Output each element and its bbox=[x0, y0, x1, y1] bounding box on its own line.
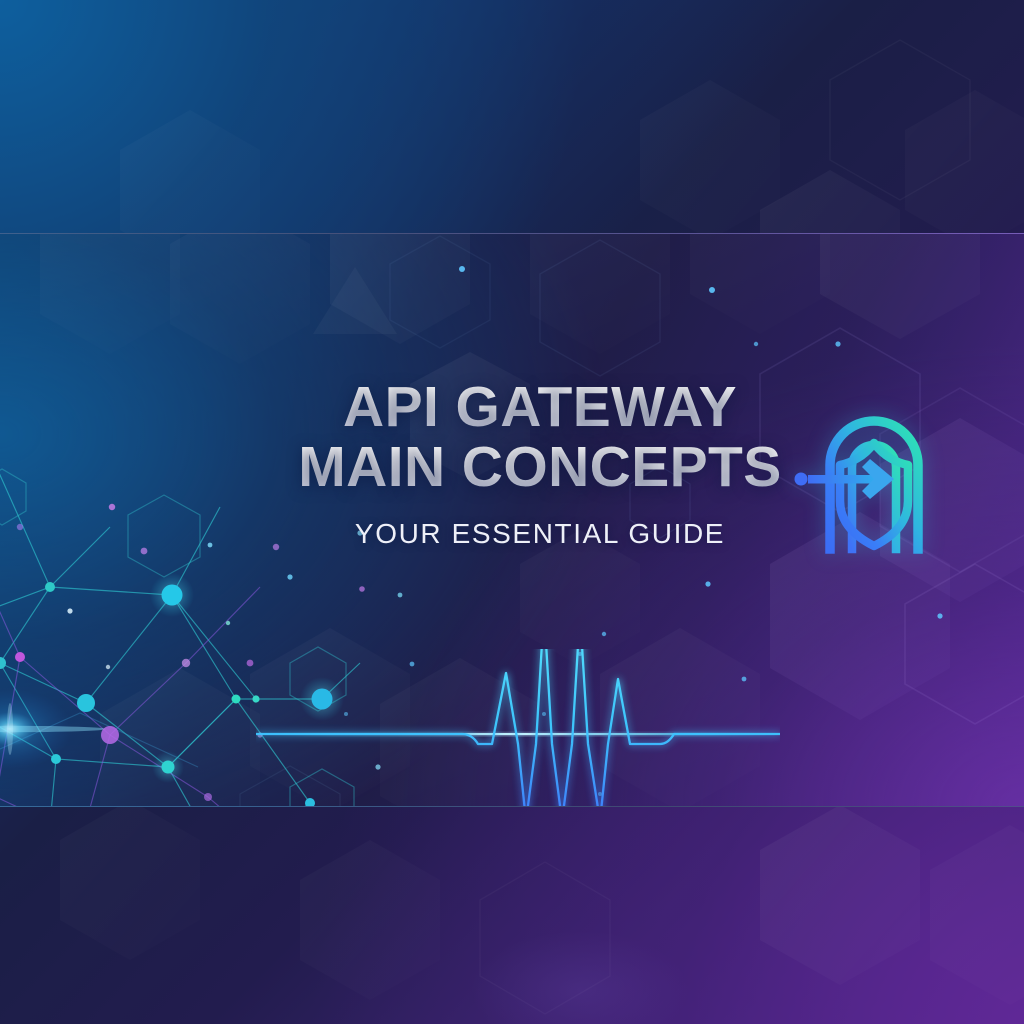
title-line-1: API GATEWAY bbox=[280, 377, 800, 437]
api-gateway-banner: API GATEWAY MAIN CONCEPTS YOUR ESSENTIAL… bbox=[0, 0, 1024, 1024]
inner-banner-band: API GATEWAY MAIN CONCEPTS YOUR ESSENTIAL… bbox=[0, 233, 1024, 807]
api-gateway-shield-arch-icon bbox=[790, 383, 958, 559]
network-constellation-graphic bbox=[0, 467, 420, 807]
banner-title-block: API GATEWAY MAIN CONCEPTS YOUR ESSENTIAL… bbox=[280, 377, 800, 550]
banner-subtitle: YOUR ESSENTIAL GUIDE bbox=[280, 518, 800, 550]
title-line-2: MAIN CONCEPTS bbox=[280, 437, 800, 497]
pulse-waveform-graphic bbox=[256, 649, 780, 807]
bottom-glow bbox=[470, 930, 690, 1024]
